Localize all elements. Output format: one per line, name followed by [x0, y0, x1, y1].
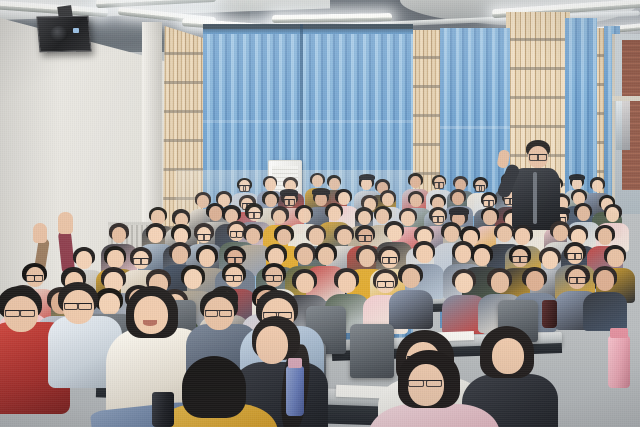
baseball-cap-icon [569, 174, 585, 180]
raised-hand [58, 212, 73, 234]
face [296, 273, 314, 293]
face [444, 226, 459, 242]
bottle-cap [610, 328, 628, 338]
face [99, 293, 119, 315]
chair-back [350, 324, 394, 378]
glasses-icon [133, 258, 148, 262]
face [265, 178, 276, 190]
window-frame [612, 96, 640, 101]
face [338, 272, 356, 292]
water-bottle-pink [608, 336, 630, 388]
hair [182, 356, 246, 418]
face [387, 225, 402, 241]
glasses-icon [358, 235, 372, 239]
glasses-icon [205, 310, 232, 314]
glasses-icon [475, 185, 485, 189]
face [491, 272, 509, 292]
baseball-cap-icon [280, 189, 298, 196]
face [148, 227, 163, 243]
face [402, 268, 420, 288]
face [256, 326, 288, 364]
face [474, 248, 490, 266]
face [265, 194, 277, 207]
glasses-icon [567, 253, 582, 257]
face [199, 249, 215, 267]
glasses-icon [382, 257, 397, 261]
glasses-icon [483, 200, 494, 204]
face [606, 207, 619, 222]
glasses-icon [432, 216, 445, 220]
face [382, 193, 394, 206]
curtain-rail [203, 24, 413, 29]
raised-hand [33, 223, 47, 243]
face [483, 210, 496, 225]
face [184, 269, 202, 289]
face [492, 338, 524, 374]
glasses-icon [64, 303, 92, 307]
glasses-icon [227, 257, 242, 261]
water-bottle-black [542, 300, 557, 328]
glasses-icon [434, 182, 444, 186]
face [151, 210, 164, 225]
face [542, 251, 558, 269]
glasses-icon [197, 234, 211, 238]
face [592, 180, 603, 192]
glasses-icon [26, 275, 43, 279]
baseball-cap-icon [449, 207, 469, 215]
lecture-hall-photo: Crowded university lecture hall with stu… [0, 0, 640, 427]
speaker-indicator-icon [73, 28, 79, 33]
face [318, 247, 334, 265]
water-bottle-blue [286, 366, 304, 416]
face [526, 271, 544, 291]
face [577, 206, 590, 221]
face [338, 192, 350, 205]
face [329, 178, 340, 190]
glasses-icon [225, 275, 242, 279]
torso [389, 290, 433, 329]
face [134, 296, 168, 334]
face [337, 229, 352, 245]
face [416, 245, 432, 263]
glasses-icon [284, 199, 295, 203]
glasses-icon [569, 277, 586, 281]
face [209, 206, 222, 221]
baseball-cap-icon [359, 174, 375, 180]
face [607, 249, 623, 267]
speaker-cone-icon [50, 26, 68, 42]
jacket-zip [533, 172, 537, 224]
window-glass [616, 100, 630, 150]
face [515, 228, 530, 244]
glasses-icon [529, 154, 547, 158]
baseball-cap-icon [312, 188, 330, 195]
face [497, 226, 512, 242]
face [455, 245, 471, 263]
bottle-cap [288, 358, 302, 368]
face [309, 228, 324, 244]
torso [583, 292, 627, 331]
face [553, 225, 568, 241]
face [596, 270, 614, 290]
glasses-icon [265, 275, 282, 279]
glasses-icon [248, 212, 261, 216]
glasses-icon [512, 256, 527, 260]
face [401, 211, 414, 226]
smile [143, 320, 157, 326]
glasses-icon [5, 310, 35, 314]
face [172, 246, 188, 264]
glasses-icon [239, 185, 249, 189]
face [358, 211, 371, 226]
glasses-icon [230, 231, 244, 235]
face [598, 228, 613, 244]
curtain-fold-highlight [440, 126, 510, 129]
face [359, 249, 375, 267]
water-bottle-black [152, 392, 174, 427]
face [76, 251, 92, 269]
glasses-icon [408, 380, 442, 384]
face [107, 250, 123, 268]
face [410, 176, 421, 188]
curtain-fold-highlight [203, 120, 413, 123]
face [328, 206, 341, 221]
face [297, 247, 313, 265]
face [246, 228, 261, 244]
face [455, 273, 473, 293]
face [298, 208, 311, 223]
glasses-icon [377, 281, 394, 285]
